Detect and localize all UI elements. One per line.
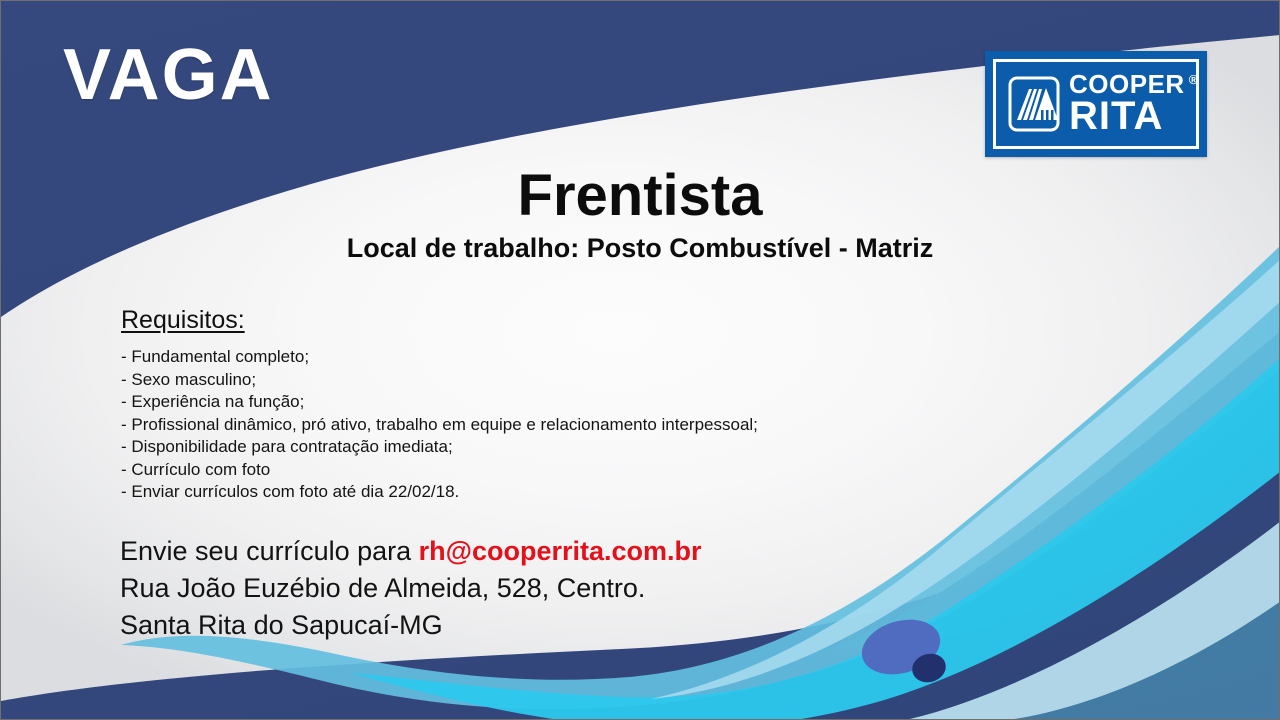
cooperative-mark-icon	[1008, 76, 1060, 132]
list-item: - Fundamental completo;	[121, 346, 1021, 369]
list-item: - Sexo masculino;	[121, 369, 1021, 392]
list-item: - Enviar currículos com foto até dia 22/…	[121, 481, 1021, 504]
list-item: - Profissional dinâmico, pró ativo, trab…	[121, 414, 1021, 437]
send-resume-line: Envie seu currículo para rh@cooperrita.c…	[120, 533, 702, 570]
requirements-list: - Fundamental completo; - Sexo masculino…	[121, 346, 1021, 504]
cooper-rita-logo: COOPER ® RITA	[985, 51, 1207, 157]
street-address-line: Rua João Euzébio de Almeida, 528, Centro…	[120, 570, 702, 607]
list-item: - Currículo com foto	[121, 459, 1021, 482]
job-location-subtitle: Local de trabalho: Posto Combustível - M…	[1, 234, 1279, 264]
job-posting-poster: VAGA COOPER ® RITA Frentista	[0, 0, 1280, 720]
requirements-heading: Requisitos:	[121, 306, 245, 335]
logo-wordmark: COOPER ® RITA	[1069, 73, 1199, 135]
logo-inner-frame: COOPER ® RITA	[993, 59, 1199, 149]
list-item: - Experiência na função;	[121, 391, 1021, 414]
email-address-link[interactable]: rh@cooperrita.com.br	[419, 536, 702, 566]
send-resume-prefix: Envie seu currículo para	[120, 536, 419, 566]
registered-trademark-icon: ®	[1189, 73, 1199, 86]
city-line: Santa Rita do Sapucaí-MG	[120, 607, 702, 644]
list-item: - Disponibilidade para contratação imedi…	[121, 436, 1021, 459]
page-title: Frentista	[1, 167, 1279, 225]
contact-block: Envie seu currículo para rh@cooperrita.c…	[120, 533, 702, 644]
vaga-banner-label: VAGA	[63, 39, 274, 111]
logo-rita-text: RITA	[1069, 98, 1199, 135]
